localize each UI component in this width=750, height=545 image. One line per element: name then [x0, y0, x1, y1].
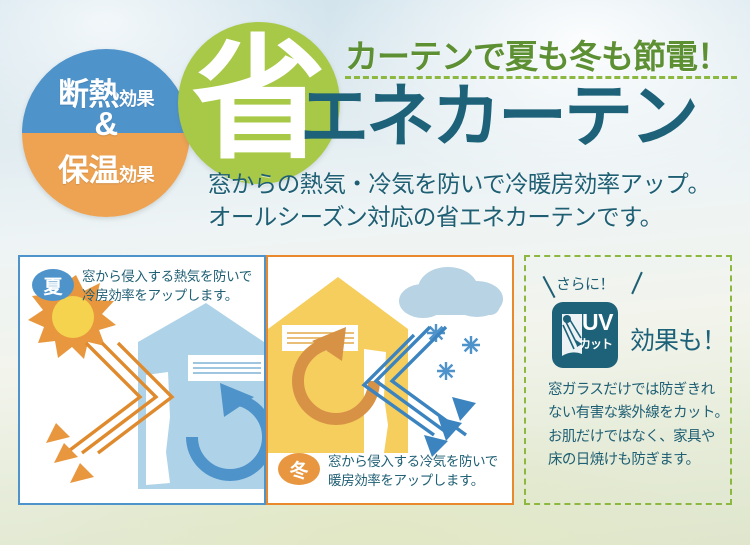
uv-cut-icon: UV カット — [552, 302, 618, 368]
uv-cut-label: カット — [579, 338, 612, 350]
lead-paragraph: 窓からの熱気・冷気を防いで冷暖房効率アップ。 オールシーズン対応の省エネカーテン… — [208, 168, 710, 235]
uv-description-line-3: お肌だけではなく、家具や — [548, 426, 728, 449]
page-title: エネカーテン — [300, 82, 696, 151]
caption-winter-line-2: 暖房効率をアップします。 — [328, 472, 498, 491]
ampersand: & — [22, 105, 190, 143]
caption-summer-line-2: 冷房効率をアップします。 — [82, 287, 252, 306]
heat-ray-arrowheads — [46, 423, 94, 483]
sarani-slash-right-icon — [631, 272, 643, 295]
badge-summer: 夏 — [32, 269, 74, 301]
sarani-text: さらに！ — [556, 273, 614, 294]
sarani-slash-left-icon — [542, 276, 555, 298]
caption-summer: 窓から侵入する熱気を防いで 冷房効率をアップします。 — [82, 268, 252, 305]
uv-description-line-2: ない有害な紫外線をカット。 — [548, 402, 728, 425]
benefit-circle-insulation-warmth: 断熱効果 & 保温効果 — [22, 49, 190, 217]
uv-description-line-4: 床の日焼けも防ぎます。 — [548, 449, 728, 472]
circle-text-group: 断熱効果 & 保温効果 — [22, 49, 190, 217]
panel-uv: さらに！ UV カット 効果も！ 窓ガラスだけでは防ぎきれ ない有害な紫外線をカ… — [524, 255, 732, 505]
uv-label: UV — [582, 311, 613, 334]
panel-summer: 夏 窓から侵入する熱気を防いで 冷房効率をアップします。 — [18, 255, 266, 505]
warmth-label: 保温効果 — [22, 145, 190, 190]
caption-winter-line-1: 窓から侵入する冷気を防いで — [328, 453, 498, 472]
caption-winter: 窓から侵入する冷気を防いで 暖房効率をアップします。 — [328, 453, 498, 490]
uv-description-line-1: 窓ガラスだけでは防ぎきれ — [548, 379, 728, 402]
caption-summer-line-1: 窓から侵入する熱気を防いで — [82, 268, 252, 287]
banner-root: 断熱効果 & 保温効果 省 カーテンで夏も冬も節電！ エネカーテン 窓からの熱気… — [0, 0, 750, 545]
badge-winter: 冬 — [278, 453, 320, 485]
snowflake-icon — [427, 324, 480, 380]
uv-effect-text: 効果も！ — [630, 321, 726, 357]
lead-line-2: オールシーズン対応の省エネカーテンです。 — [208, 201, 710, 234]
panel-winter: 冬 窓から侵入する冷気を防いで 暖房効率をアップします。 — [266, 255, 514, 505]
uv-description: 窓ガラスだけでは防ぎきれ ない有害な紫外線をカット。 お肌だけではなく、家具や … — [548, 379, 728, 473]
lead-line-1: 窓からの熱気・冷気を防いで冷暖房効率アップ。 — [208, 168, 710, 201]
cold-ray-arrowheads — [424, 397, 476, 457]
kicker-text: カーテンで夏も冬も節電！ — [345, 30, 729, 78]
cloud-icon — [399, 267, 503, 318]
